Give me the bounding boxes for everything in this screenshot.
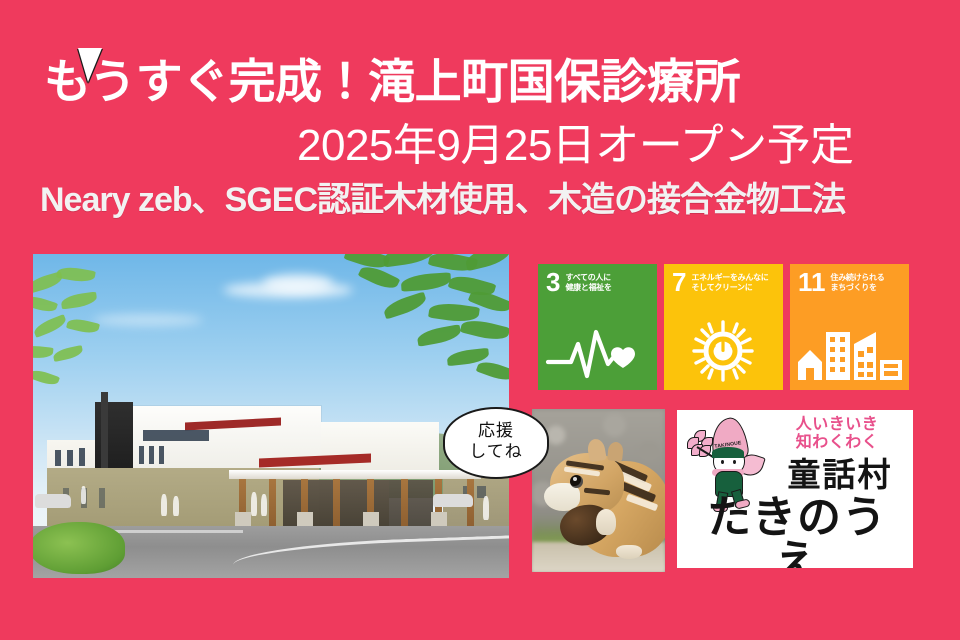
- speech-bubble-text: 応援 してね: [445, 420, 547, 463]
- city-buildings-icon: [790, 318, 909, 384]
- logo-townname: たきのうえ: [685, 496, 909, 568]
- figure-person: [81, 486, 86, 504]
- logo-tagline-line1: 人いきいき: [796, 416, 879, 433]
- window: [55, 450, 61, 466]
- window: [67, 450, 73, 466]
- speech-bubble-tail: [78, 48, 102, 82]
- figure-person: [483, 496, 489, 520]
- mascot-hair: [712, 447, 744, 458]
- mascot-eye: [733, 460, 736, 464]
- chipmunk-ear: [607, 441, 624, 461]
- parked-car: [433, 494, 473, 507]
- building-chimney: [101, 392, 108, 476]
- sdg-tile-3-number: 3: [546, 271, 560, 294]
- mascot-eye: [721, 460, 724, 464]
- entrance-canopy: [229, 470, 481, 479]
- speech-bubble-line2: してね: [469, 442, 523, 461]
- page-title: もうすぐ完成！滝上町国保診療所: [44, 58, 740, 105]
- chipmunk-foot: [616, 545, 642, 559]
- sdg-tile-11-number: 11: [798, 271, 826, 294]
- poster-root: もうすぐ完成！滝上町国保診療所 2025年9月25日オープン予定 Neary z…: [0, 0, 960, 640]
- figure-person: [173, 496, 179, 516]
- speech-bubble: 応援 してね: [443, 407, 549, 479]
- window: [79, 448, 85, 466]
- building-render-photo: [33, 254, 509, 578]
- figure-person: [261, 494, 267, 516]
- sdg-tile-11-header: 11 住み続けられる まちづくりを: [798, 271, 884, 294]
- sdg-tile-3[interactable]: 3 すべての人に 健康と福祉を: [538, 264, 657, 390]
- chipmunk-eye-highlight: [573, 477, 577, 481]
- sdg-tile-3-header: 3 すべての人に 健康と福祉を: [546, 271, 612, 294]
- sun-power-icon: [664, 318, 783, 384]
- town-logo: TAKINOUE 人いきいき 知わくわく 童話村 たきのうえ: [677, 410, 913, 568]
- cloud: [263, 274, 333, 292]
- cherry-blossom-icon: [687, 430, 711, 454]
- logo-tagline-line2: 知わくわく: [796, 434, 879, 451]
- speech-bubble-line1: 応援: [478, 421, 514, 440]
- chipmunk-photo: [532, 409, 665, 572]
- foreground-bush: [33, 522, 125, 574]
- logo-tagline: 人いきいき 知わくわく: [765, 416, 909, 453]
- sdg-icon-row: 3 すべての人に 健康と福祉を 7 エネルギーをみんなに そしてクリーンに: [538, 264, 909, 390]
- sdg-tile-7-title: エネルギーをみんなに そしてクリーンに: [691, 271, 768, 293]
- chipmunk-paw: [596, 509, 616, 535]
- sdg-tile-3-title: すべての人に 健康と福祉を: [565, 271, 611, 293]
- building-main-white-2: [321, 422, 439, 474]
- sdg-tile-11[interactable]: 11 住み続けられる まちづくりを: [790, 264, 909, 390]
- window: [139, 446, 144, 464]
- logo-midline: 童話村: [773, 458, 907, 491]
- figure-person: [161, 494, 167, 516]
- sdg-tile-7-header: 7 エネルギーをみんなに そしてクリーンに: [672, 271, 768, 294]
- sdg-tile-7[interactable]: 7 エネルギーをみんなに そしてクリーンに: [664, 264, 783, 390]
- heartbeat-icon: [538, 318, 657, 384]
- tree-canopy-right: [325, 254, 509, 396]
- window: [149, 446, 154, 464]
- sdg-tile-7-number: 7: [672, 271, 686, 294]
- window-strip: [143, 430, 209, 441]
- figure-person: [251, 492, 257, 516]
- parked-car: [35, 494, 71, 508]
- building-spec-text: Neary zeb、SGEC認証木材使用、木造の接合金物工法: [40, 183, 845, 217]
- window: [99, 488, 105, 508]
- sdg-tile-11-title: 住み続けられる まちづくりを: [831, 271, 885, 293]
- window: [159, 446, 164, 464]
- opening-date-text: 2025年9月25日オープン予定: [297, 124, 854, 168]
- fairy-mascot-icon: TAKINOUE: [685, 416, 771, 502]
